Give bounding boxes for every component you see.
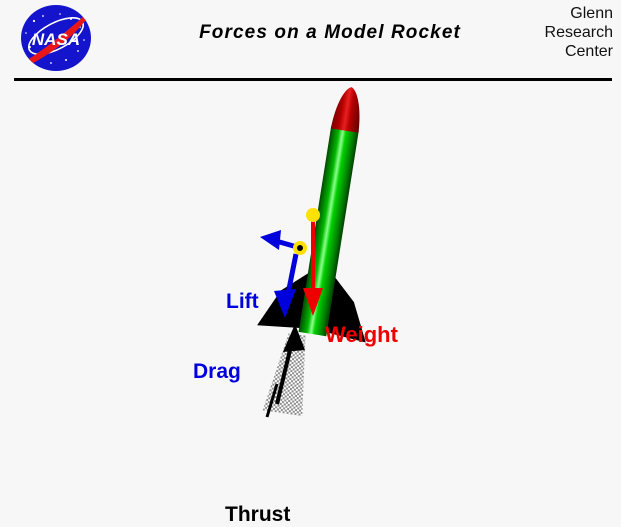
weight-label: Weight bbox=[325, 322, 398, 348]
nasa-meatball-logo: NASA bbox=[14, 3, 98, 73]
lift-label: Lift bbox=[226, 290, 259, 314]
header-divider bbox=[14, 78, 612, 81]
thrust-label: Thrust bbox=[225, 503, 290, 527]
page-title: Forces on a Model Rocket bbox=[150, 22, 510, 44]
center-line-2: Research bbox=[503, 23, 613, 42]
lift-vector bbox=[260, 230, 297, 250]
model-rocket-forces-diagram: Lift Drag Weight Thrust bbox=[0, 84, 621, 466]
nose-cone bbox=[331, 85, 366, 133]
page-root: NASA Forces on a Model Rocket Glenn Rese… bbox=[0, 0, 621, 466]
nasa-wordmark: NASA bbox=[32, 30, 80, 49]
center-of-gravity-marker bbox=[306, 208, 320, 222]
center-of-pressure-marker bbox=[293, 241, 307, 255]
center-line-1: Glenn bbox=[503, 4, 613, 23]
drag-label: Drag bbox=[193, 360, 241, 384]
glenn-research-center-label: Glenn Research Center bbox=[503, 4, 613, 61]
page-header: NASA Forces on a Model Rocket Glenn Rese… bbox=[0, 0, 621, 78]
center-line-3: Center bbox=[503, 42, 613, 61]
